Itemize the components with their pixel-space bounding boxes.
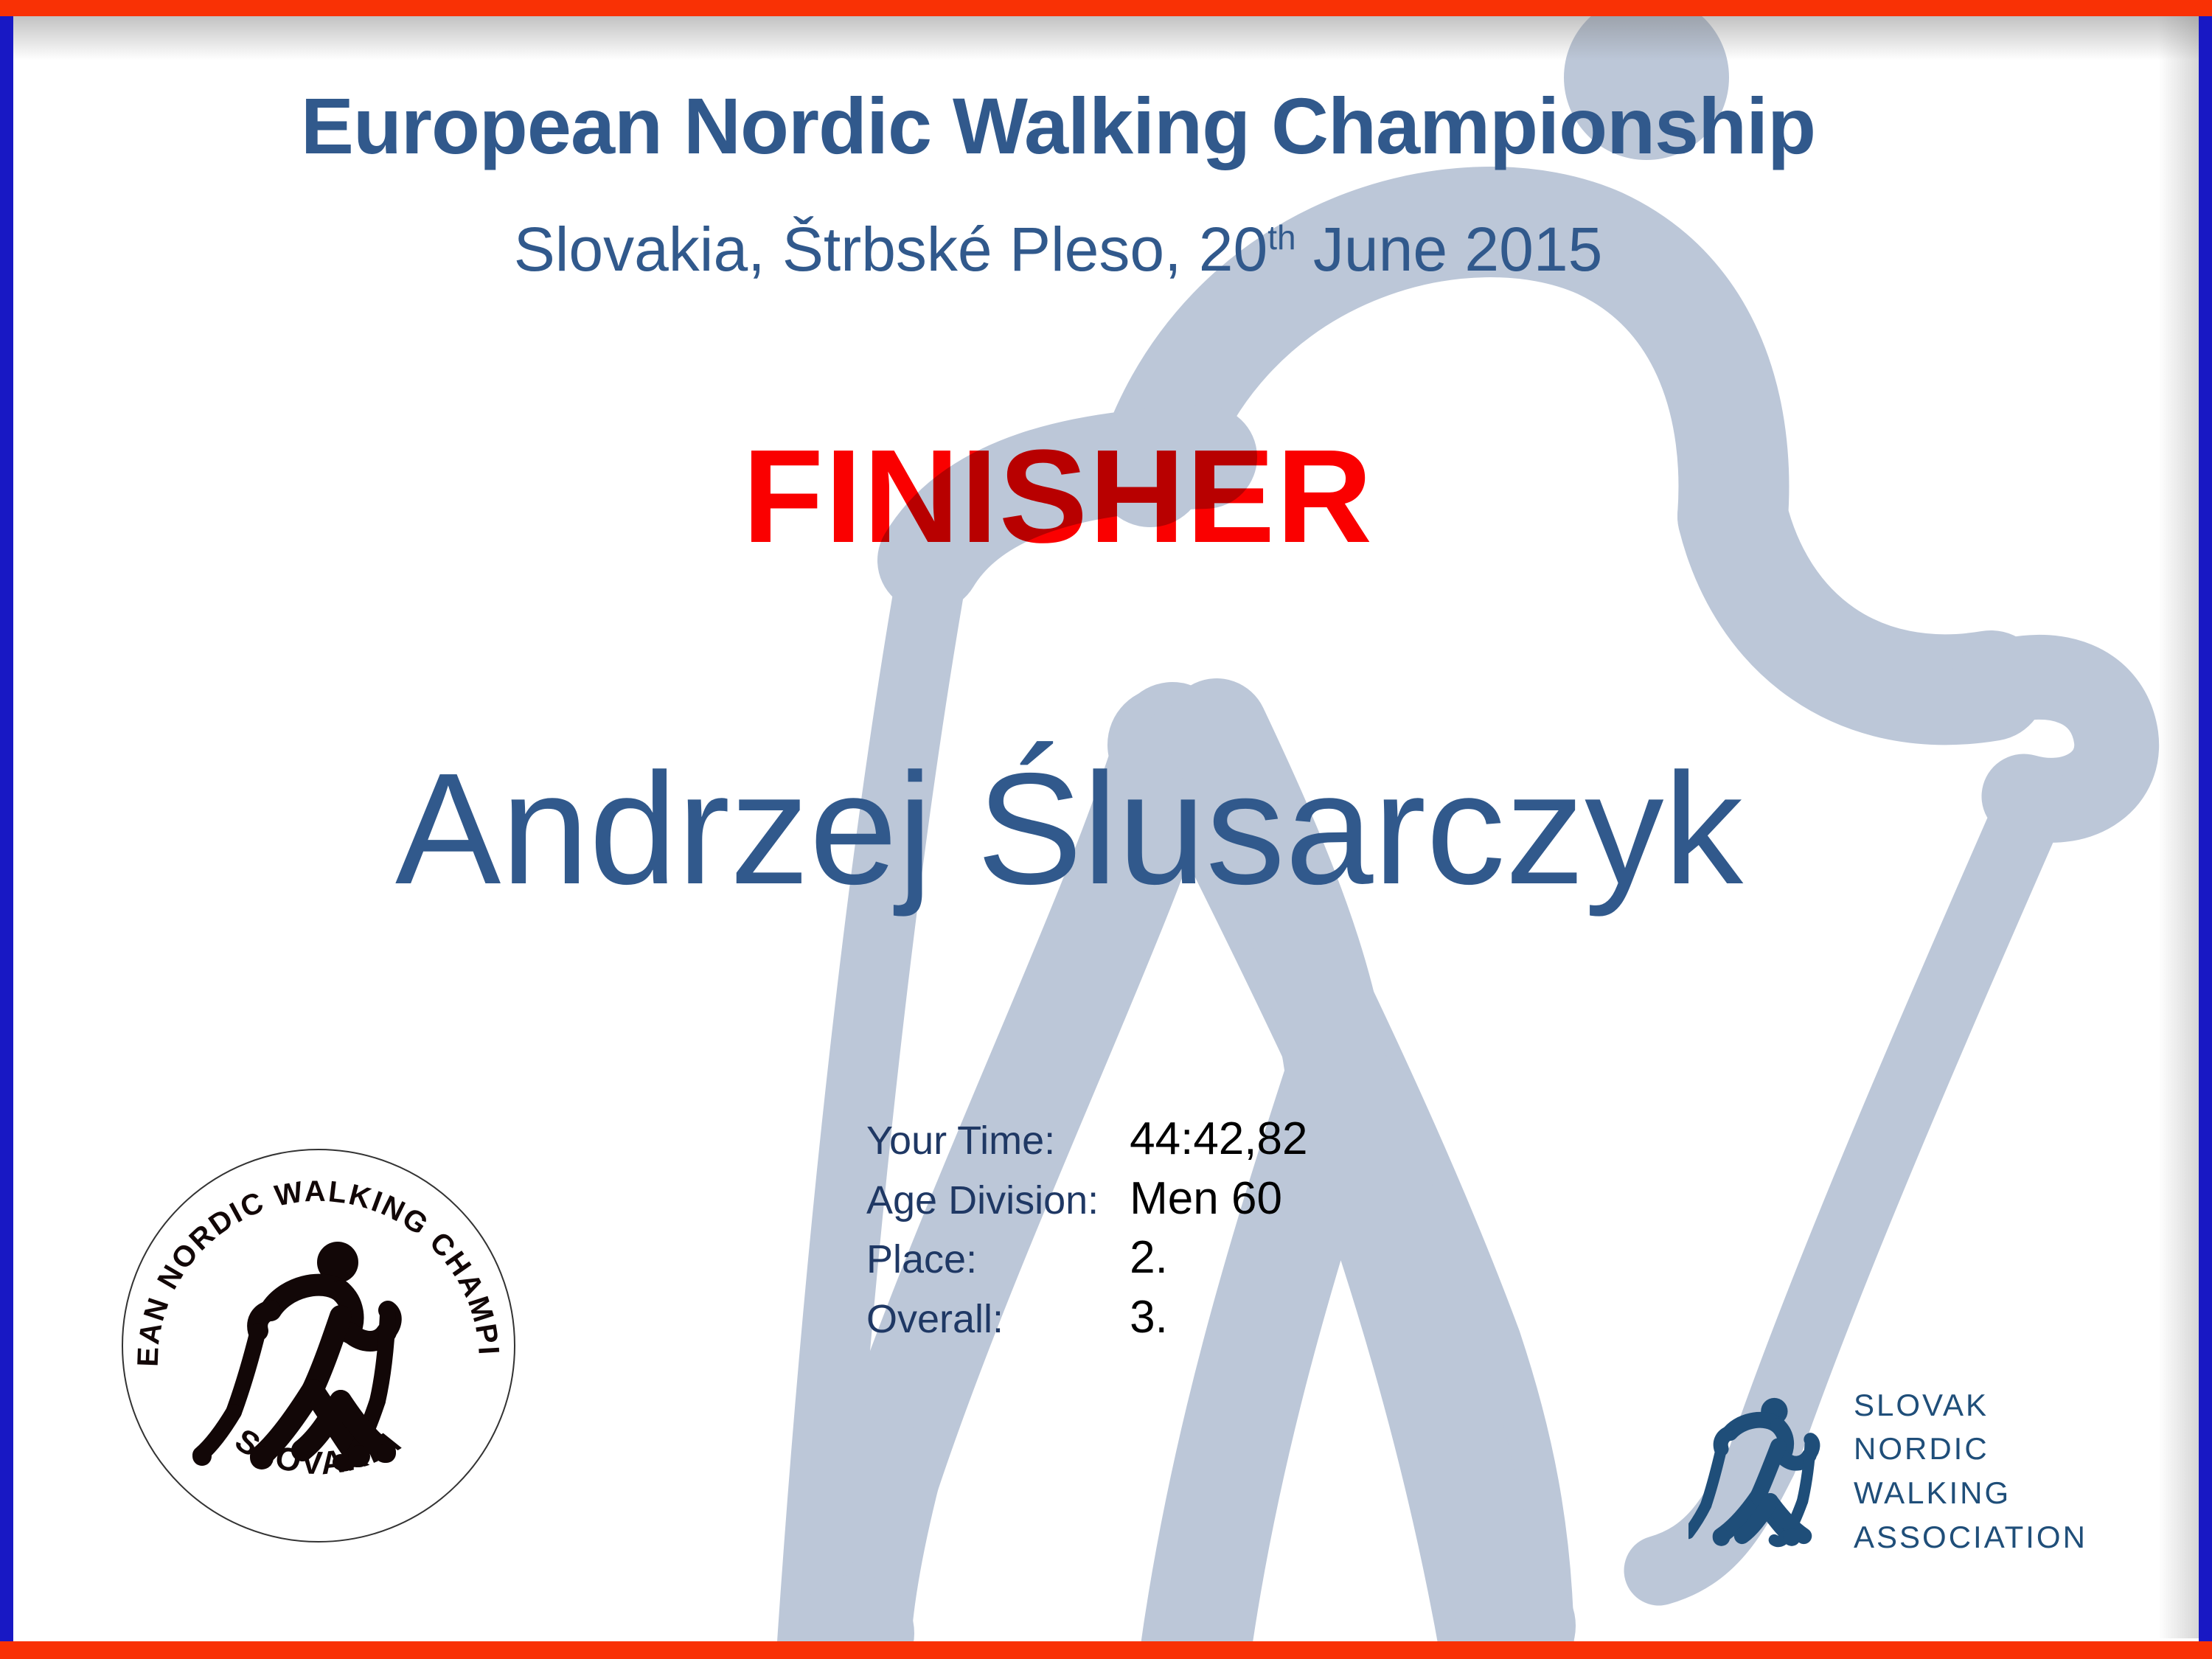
event-location-date: Slovakia, Štrbské Pleso, 20th June 2015: [0, 214, 2116, 285]
right-inner-shadow: [2158, 16, 2199, 1638]
result-value: 3.: [1130, 1288, 1307, 1348]
date-ordinal-suffix: th: [1267, 218, 1295, 257]
table-row: Overall: 3.: [866, 1288, 1307, 1348]
status-heading: FINISHER: [0, 420, 2116, 573]
event-date-year: June 2015: [1296, 215, 1603, 284]
top-red-band: [0, 0, 2212, 16]
association-logo-text: SLOVAK NORDIC WALKING ASSOCIATION: [1854, 1383, 2146, 1559]
association-line-3: ASSOCIATION: [1854, 1515, 2146, 1559]
result-label: Your Time:: [866, 1110, 1130, 1169]
result-label: Place:: [866, 1228, 1130, 1288]
results-block: Your Time: 44:42,82 Age Division: Men 60…: [866, 1110, 1307, 1347]
result-label: Age Division:: [866, 1169, 1130, 1229]
finisher-certificate: European Nordic Walking Championship Slo…: [0, 0, 2212, 1659]
result-value: 2.: [1130, 1228, 1307, 1288]
bottom-red-band: [0, 1641, 2212, 1659]
top-inner-shadow: [13, 16, 2199, 60]
table-row: Place: 2.: [866, 1228, 1307, 1288]
association-line-2: NORDIC WALKING: [1854, 1427, 2146, 1514]
result-label: Overall:: [866, 1288, 1130, 1348]
association-line-1: SLOVAK: [1854, 1383, 2146, 1427]
event-location-date-prefix: Slovakia, Štrbské Pleso, 20: [514, 215, 1268, 284]
result-value: Men 60: [1130, 1169, 1307, 1229]
association-logo: SLOVAK NORDIC WALKING ASSOCIATION: [1688, 1386, 2146, 1556]
event-title: European Nordic Walking Championship: [0, 80, 2116, 172]
results-table: Your Time: 44:42,82 Age Division: Men 60…: [866, 1110, 1307, 1347]
table-row: Your Time: 44:42,82: [866, 1110, 1307, 1169]
walker-pictogram-icon: [1688, 1394, 1836, 1548]
athlete-name: Andrzej Ślusarczyk: [0, 737, 2138, 920]
event-logo: EUROPEAN NORDIC WALKING CHAMPIONSHIP SLO…: [119, 1147, 518, 1545]
table-row: Age Division: Men 60: [866, 1169, 1307, 1229]
result-value: 44:42,82: [1130, 1110, 1307, 1169]
